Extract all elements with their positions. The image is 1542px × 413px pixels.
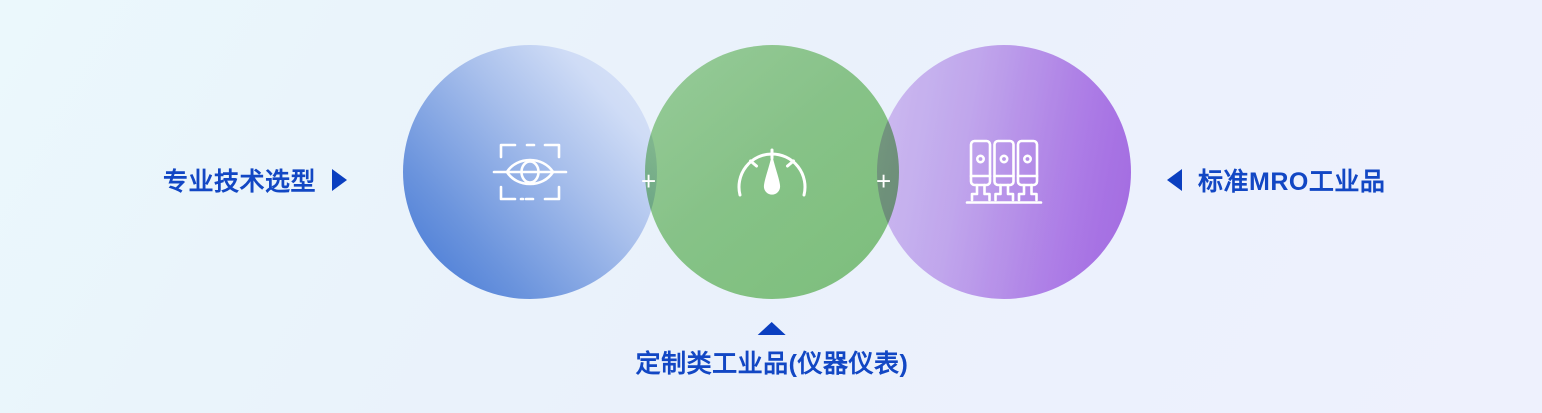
venn-diagram-stage: + + 专业技术选型 标准MRO工业品 定制类工业品(仪器仪表) [0, 0, 1542, 413]
plus-operator-2: + [876, 168, 891, 194]
label-bottom-inner: 定制类工业品(仪器仪表) [636, 322, 909, 380]
plus-operator-1: + [641, 168, 656, 194]
label-left-text: 专业技术选型 [163, 162, 316, 198]
circle-blue [403, 45, 657, 299]
triangle-left-icon [1167, 169, 1182, 191]
label-bottom-text: 定制类工业品(仪器仪表) [636, 344, 909, 380]
label-right: 标准MRO工业品 [1167, 162, 1385, 198]
label-right-text: 标准MRO工业品 [1198, 162, 1385, 198]
triangle-up-icon [758, 322, 786, 335]
label-left: 专业技术选型 [163, 162, 347, 198]
circle-purple [877, 45, 1131, 299]
circle-green [645, 45, 899, 299]
triangle-right-icon [332, 169, 347, 191]
